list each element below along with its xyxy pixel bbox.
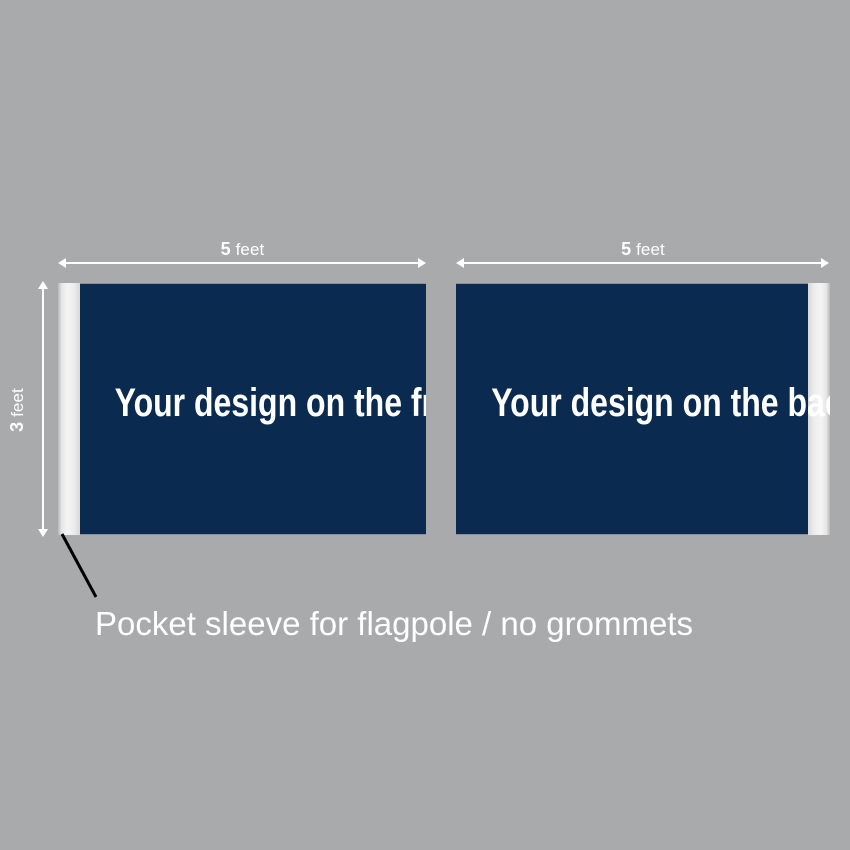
flag-front-design-text: Your design on the front xyxy=(115,383,392,423)
arrowhead-right-icon xyxy=(418,258,426,268)
dimension-line xyxy=(462,262,823,264)
flag-front[interactable]: Your design on the front xyxy=(58,283,426,535)
height-unit: feet xyxy=(8,388,27,417)
height-dimension-label: 3 feet xyxy=(8,388,27,432)
flag-front-pocket-sleeve xyxy=(58,283,80,535)
flag-diagram-canvas: 5 feet 3 feet Your design on the front 5… xyxy=(0,0,850,850)
dimension-line xyxy=(42,287,44,531)
flag-back[interactable]: Your design on the back xyxy=(456,283,830,535)
arrowhead-down-icon xyxy=(38,529,48,537)
right-width-dimension-arrow xyxy=(456,256,829,270)
dimension-line xyxy=(64,262,420,264)
flag-back-design-text: Your design on the back xyxy=(491,383,773,423)
arrowhead-right-icon xyxy=(821,258,829,268)
height-value: 3 xyxy=(7,422,27,432)
height-dimension-label-wrapper: 3 feet xyxy=(8,370,28,450)
height-dimension-arrow xyxy=(36,281,50,537)
pocket-sleeve-caption: Pocket sleeve for flagpole / no grommets xyxy=(95,607,693,640)
left-width-dimension-arrow xyxy=(58,256,426,270)
